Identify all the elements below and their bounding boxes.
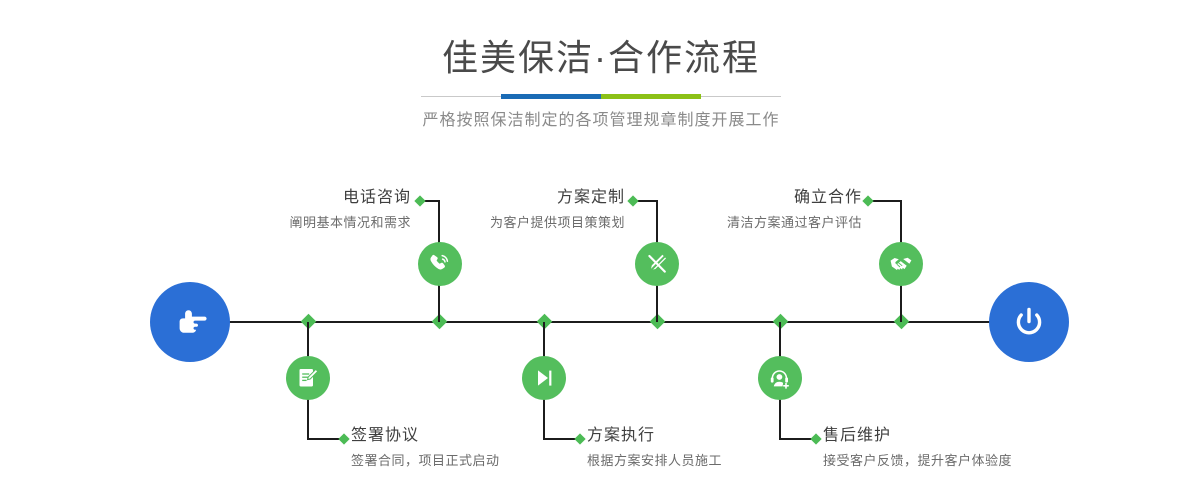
step-icon-circle[interactable] [418,242,462,286]
step-icon-circle[interactable] [635,242,679,286]
step-label-below: 售后维护 接受客户反馈，提升客户体验度 [823,426,1093,470]
step-icon-circle[interactable] [758,356,802,400]
step-label-below: 方案执行 根据方案安排人员施工 [587,426,817,470]
step-label-below: 签署协议 签署合同，项目正式启动 [351,426,581,470]
headset-support-icon [767,365,793,391]
step-icon-circle[interactable] [286,356,330,400]
page-subtitle: 严格按照保洁制定的各项管理规章制度开展工作 [0,110,1202,132]
step-icon-circle[interactable] [522,356,566,400]
divider-segment-green [601,94,701,99]
step-desc: 清洁方案通过客户评估 [690,214,862,232]
power-icon [1007,300,1051,344]
step-icon-circle[interactable] [879,242,923,286]
page-title: 佳美保洁·合作流程 [0,36,1202,80]
step-desc: 签署合同，项目正式启动 [351,452,581,470]
connector-tip-marker [338,433,349,444]
pointing-hand-icon [168,300,212,344]
divider-segment-blue [501,94,601,99]
timeline-end-node [989,282,1069,362]
step-desc: 为客户提供项目策策划 [439,214,625,232]
step-desc: 接受客户反馈，提升客户体验度 [823,452,1093,470]
document-edit-icon [295,365,321,391]
step-label-above: 方案定制 为客户提供项目策策划 [439,188,625,232]
step-label-above: 确立合作 清洁方案通过客户评估 [690,188,862,232]
step-title: 电话咨询 [221,188,411,208]
step-title: 方案定制 [439,188,625,208]
handshake-icon [888,251,914,277]
connector-tip-marker [414,195,425,206]
connector-tip-marker [627,195,638,206]
step-title: 方案执行 [587,426,817,446]
step-title: 售后维护 [823,426,1093,446]
title-divider [421,94,781,99]
play-execute-icon [531,365,557,391]
step-title: 签署协议 [351,426,581,446]
pencil-design-icon [644,251,670,277]
step-desc: 阐明基本情况和需求 [221,214,411,232]
step-desc: 根据方案安排人员施工 [587,452,817,470]
step-label-above: 电话咨询 阐明基本情况和需求 [221,188,411,232]
connector-tip-marker [862,195,873,206]
phone-call-icon [427,251,453,277]
timeline-start-node [150,282,230,362]
page-header: 佳美保洁·合作流程 严格按照保洁制定的各项管理规章制度开展工作 [0,36,1202,132]
flowchart-page: 佳美保洁·合作流程 严格按照保洁制定的各项管理规章制度开展工作 [0,0,1202,502]
step-title: 确立合作 [690,188,862,208]
